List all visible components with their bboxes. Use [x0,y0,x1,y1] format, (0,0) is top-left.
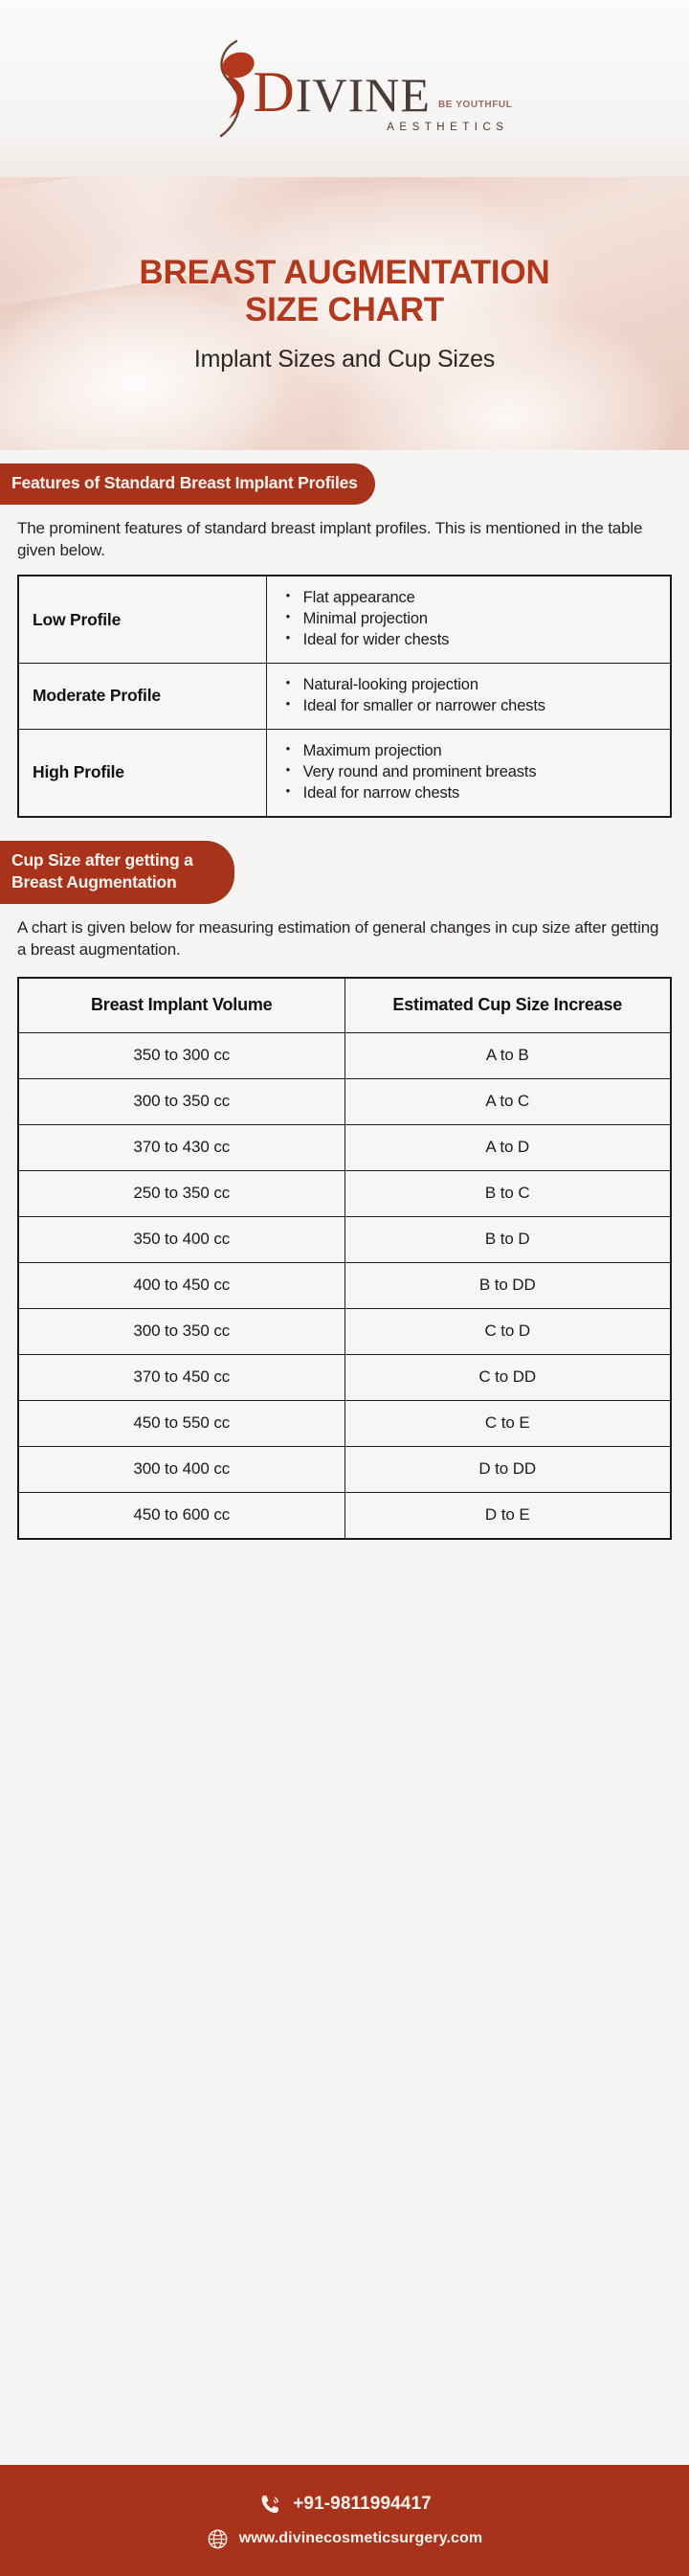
phone-icon [257,2492,282,2517]
cell-cup-increase: B to D [344,1217,671,1263]
cell-cup-increase: D to E [344,1493,671,1540]
cell-implant-volume: 300 to 350 cc [18,1309,344,1355]
logo-bar: DIVINE BE YOUTHFUL AESTHETICS [0,0,689,177]
implant-profiles-table: Low Profile Flat appearance Minimal proj… [17,575,672,818]
column-header-volume: Breast Implant Volume [18,978,344,1033]
table-row: Moderate Profile Natural-looking project… [18,664,671,730]
bottom-spacer [17,1540,672,1561]
page-title-line2: SIZE CHART [139,291,549,328]
profile-features-cell: Maximum projection Very round and promin… [266,729,671,816]
table-row: 370 to 450 ccC to DD [18,1355,671,1401]
cup-size-intro-paragraph: A chart is given below for measuring est… [17,916,672,961]
brand-name: DIVINE [254,65,431,120]
cell-cup-increase: B to DD [344,1263,671,1309]
cell-cup-increase: C to E [344,1401,671,1447]
cell-implant-volume: 250 to 350 cc [18,1171,344,1217]
infographic-page: DIVINE BE YOUTHFUL AESTHETICS BREAST AUG… [0,0,689,2576]
list-item: Ideal for smaller or narrower chests [282,696,660,717]
cell-implant-volume: 370 to 450 cc [18,1355,344,1401]
globe-icon [207,2528,229,2550]
table-row: 350 to 300 ccA to B [18,1033,671,1079]
footer-website-line[interactable]: www.divinecosmeticsurgery.com [207,2528,483,2550]
list-item: Natural-looking projection [282,675,660,696]
profile-name: Moderate Profile [18,664,266,730]
profile-feature-list: Flat appearance Minimal projection Ideal… [277,588,660,651]
cell-implant-volume: 300 to 400 cc [18,1447,344,1493]
cell-cup-increase: A to C [344,1079,671,1125]
list-item: Flat appearance [282,588,660,609]
list-item: Very round and prominent breasts [282,762,660,783]
cell-implant-volume: 350 to 400 cc [18,1217,344,1263]
footer-website-url: www.divinecosmeticsurgery.com [239,2530,483,2547]
cell-cup-increase: C to D [344,1309,671,1355]
footer-phone-number: +91-9811994417 [293,2494,432,2515]
cell-implant-volume: 350 to 300 cc [18,1033,344,1079]
cell-cup-increase: B to C [344,1171,671,1217]
cup-size-table: Breast Implant Volume Estimated Cup Size… [17,977,672,1541]
footer-contact-bar: +91-9811994417 www.divinecosmeticsurgery… [0,2465,689,2576]
footer-phone-line[interactable]: +91-9811994417 [257,2492,432,2517]
brand-subtitle: AESTHETICS [254,122,513,133]
divine-figure-logo-icon [192,38,259,139]
table-row: 450 to 600 ccD to E [18,1493,671,1540]
table-row: 370 to 430 ccA to D [18,1125,671,1171]
profile-name: High Profile [18,729,266,816]
column-header-cup-increase: Estimated Cup Size Increase [344,978,671,1033]
profile-features-cell: Flat appearance Minimal projection Ideal… [266,576,671,663]
section-heading-cup-size: Cup Size after getting a Breast Augmenta… [0,841,234,904]
cup-size-table-body: 350 to 300 ccA to B300 to 350 ccA to C37… [18,1033,671,1540]
cell-implant-volume: 300 to 350 cc [18,1079,344,1125]
cell-implant-volume: 450 to 550 cc [18,1401,344,1447]
page-title-line1: BREAST AUGMENTATION [139,254,549,291]
implant-profiles-body: Low Profile Flat appearance Minimal proj… [18,576,671,817]
cell-cup-increase: C to DD [344,1355,671,1401]
content-body: Features of Standard Breast Implant Prof… [0,450,689,2465]
table-row: 300 to 350 ccC to D [18,1309,671,1355]
cell-implant-volume: 370 to 430 cc [18,1125,344,1171]
cell-cup-increase: D to DD [344,1447,671,1493]
table-row: 300 to 400 ccD to DD [18,1447,671,1493]
profile-feature-list: Maximum projection Very round and promin… [277,741,660,804]
brand-text-block: DIVINE BE YOUTHFUL AESTHETICS [254,65,513,139]
table-row: 350 to 400 ccB to D [18,1217,671,1263]
list-item: Ideal for wider chests [282,630,660,651]
brand-logo: DIVINE BE YOUTHFUL AESTHETICS [192,38,513,139]
cell-implant-volume: 400 to 450 cc [18,1263,344,1309]
table-row: High Profile Maximum projection Very rou… [18,729,671,816]
page-subtitle: Implant Sizes and Cup Sizes [194,346,495,373]
table-header-row: Breast Implant Volume Estimated Cup Size… [18,978,671,1033]
list-item: Minimal projection [282,609,660,630]
cup-size-table-head: Breast Implant Volume Estimated Cup Size… [18,978,671,1033]
list-item: Ideal for narrow chests [282,783,660,804]
table-row: 450 to 550 ccC to E [18,1401,671,1447]
table-row: 300 to 350 ccA to C [18,1079,671,1125]
features-intro-paragraph: The prominent features of standard breas… [17,517,672,562]
page-title: BREAST AUGMENTATION SIZE CHART [139,254,549,328]
profile-features-cell: Natural-looking projection Ideal for sma… [266,664,671,730]
list-item: Maximum projection [282,741,660,762]
cell-cup-increase: A to D [344,1125,671,1171]
cell-cup-increase: A to B [344,1033,671,1079]
cell-implant-volume: 450 to 600 cc [18,1493,344,1540]
table-row: 250 to 350 ccB to C [18,1171,671,1217]
profile-feature-list: Natural-looking projection Ideal for sma… [277,675,660,717]
section-heading-features: Features of Standard Breast Implant Prof… [0,463,375,505]
table-row: 400 to 450 ccB to DD [18,1263,671,1309]
profile-name: Low Profile [18,576,266,663]
hero-banner: BREAST AUGMENTATION SIZE CHART Implant S… [0,177,689,450]
table-row: Low Profile Flat appearance Minimal proj… [18,576,671,663]
brand-tagline: BE YOUTHFUL [438,100,513,110]
